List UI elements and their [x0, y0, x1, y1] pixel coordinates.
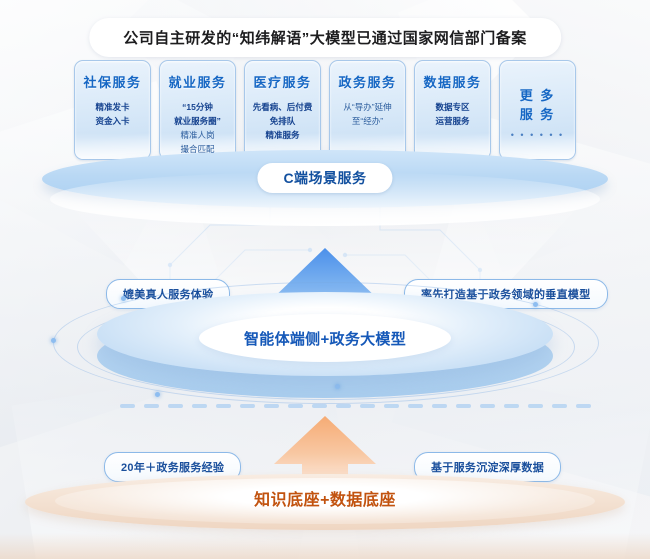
card-lines: “15分钟 就业服务圈” 精准人岗 撮合匹配 — [174, 100, 221, 156]
bottom-platform-label: 知识底座+数据底座 — [254, 492, 396, 509]
bottom-platform: 知识底座+数据底座 — [25, 474, 625, 534]
arrow-up-icon — [272, 416, 378, 478]
infographic-canvas: 公司自主研发的“知纬解语”大模型已通过国家网信部门备案 社保服务 精准发卡 资金… — [0, 0, 650, 559]
card-title: 社保服务 — [83, 72, 141, 91]
card-lines: 从“导办”延伸 至“经办” — [343, 100, 391, 128]
disc-orbit-dot — [155, 392, 160, 397]
disc-label-plate: 智能体端侧+政务大模型 — [199, 314, 451, 362]
disc-orbit-dot — [533, 302, 538, 307]
service-card-data[interactable]: 数据服务 数据专区 运营服务 — [414, 60, 491, 160]
top-platform-label: C端场景服务 — [283, 170, 366, 186]
card-line: 资金入卡 — [95, 114, 129, 128]
service-card-medical[interactable]: 医疗服务 先看病、后付费 免排队 精准服务 — [244, 60, 321, 160]
card-line: 就业服务圈” — [174, 114, 221, 128]
disc-label: 智能体端侧+政务大模型 — [244, 328, 406, 349]
disc-orbit-dot — [335, 384, 340, 389]
card-lines: 精准发卡 资金入卡 — [95, 100, 129, 128]
service-card-more[interactable]: 更 多 服 务 • • • • • • — [499, 60, 576, 160]
card-line: 先看病、后付费 — [253, 100, 313, 114]
card-line: 运营服务 — [435, 114, 469, 128]
card-ellipsis: • • • • • • — [511, 130, 564, 140]
top-platform: C端场景服务 — [42, 150, 608, 228]
card-title-stack: 更 多 服 务 — [520, 86, 556, 124]
service-card-employment[interactable]: 就业服务 “15分钟 就业服务圈” 精准人岗 撮合匹配 — [159, 60, 236, 160]
card-line: 撮合匹配 — [174, 142, 221, 156]
card-line: “15分钟 — [174, 100, 221, 114]
card-line: 至“经办” — [343, 114, 391, 128]
bottom-platform-label-wrap: 知识底座+数据底座 — [254, 486, 396, 510]
card-line: 精准人岗 — [174, 128, 221, 142]
pill-label: 基于服务沉淀深厚数据 — [431, 462, 544, 474]
card-line: 免排队 — [253, 114, 313, 128]
card-lines: 数据专区 运营服务 — [435, 100, 469, 128]
disc-orbit-dot — [51, 338, 56, 343]
card-title: 政务服务 — [338, 72, 396, 91]
dash-decoration — [120, 404, 591, 408]
service-card-social-security[interactable]: 社保服务 精准发卡 资金入卡 — [74, 60, 151, 160]
card-line: 数据专区 — [435, 100, 469, 114]
card-title-second-line: 服 务 — [520, 105, 556, 124]
middle-disc: 智能体端侧+政务大模型 — [35, 292, 615, 402]
card-title: 就业服务 — [168, 72, 226, 91]
top-platform-label-pill: C端场景服务 — [257, 163, 392, 193]
card-title: 数据服务 — [423, 72, 481, 91]
pill-label: 20年＋政务服务经验 — [121, 462, 224, 474]
bottom-gradient-band — [0, 533, 650, 559]
card-line: 精准服务 — [253, 128, 313, 142]
card-lines: 先看病、后付费 免排队 精准服务 — [253, 100, 313, 142]
card-title: 更 多 — [520, 86, 556, 105]
card-line: 从“导办”延伸 — [343, 100, 391, 114]
header-title-pill: 公司自主研发的“知纬解语”大模型已通过国家网信部门备案 — [89, 18, 561, 57]
service-card-government-affairs[interactable]: 政务服务 从“导办”延伸 至“经办” — [329, 60, 406, 160]
disc-orbit-dot — [121, 296, 126, 301]
card-line: 精准发卡 — [95, 100, 129, 114]
service-card-row: 社保服务 精准发卡 资金入卡 就业服务 “15分钟 就业服务圈” 精准人岗 撮合… — [74, 60, 584, 160]
card-title: 医疗服务 — [253, 72, 311, 91]
page-title: 公司自主研发的“知纬解语”大模型已通过国家网信部门备案 — [123, 30, 527, 47]
